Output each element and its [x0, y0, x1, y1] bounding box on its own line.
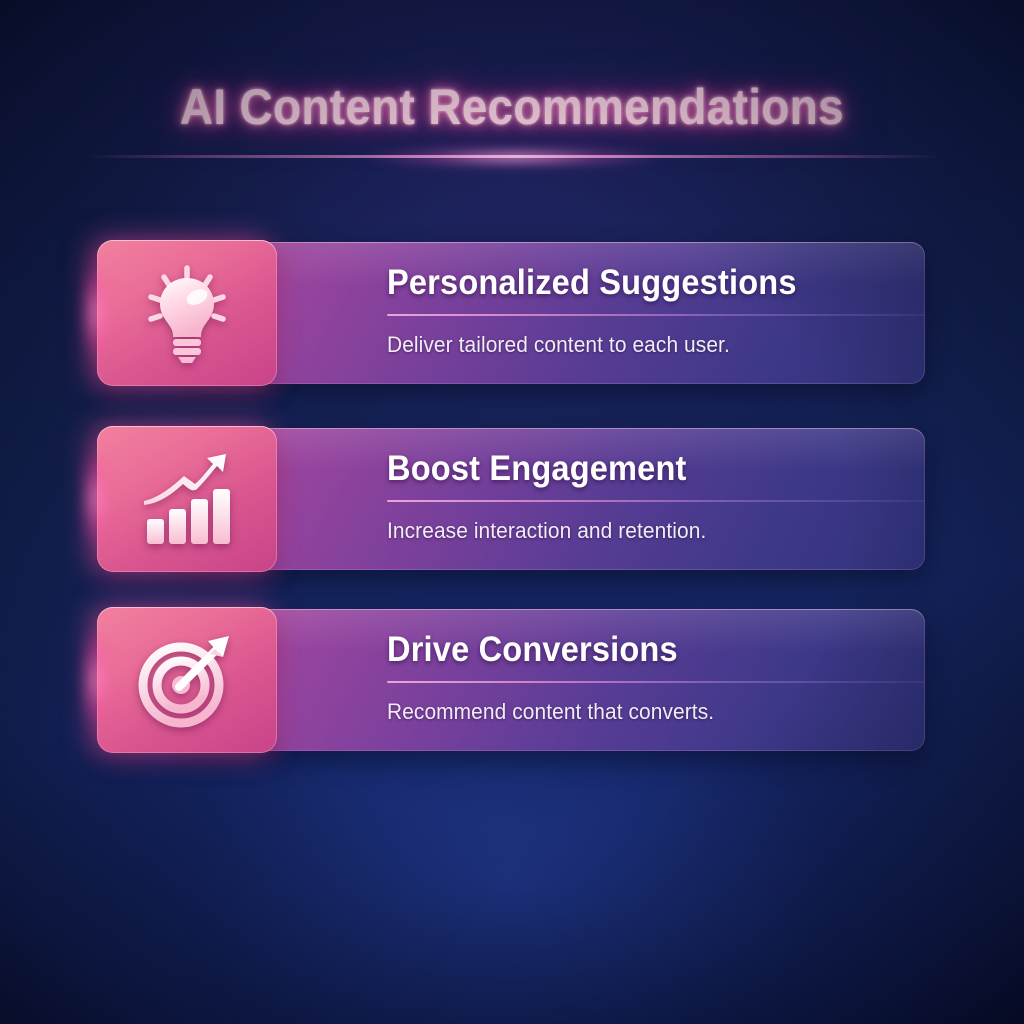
feature-card[interactable]: Personalized Suggestions Deliver tailore… — [97, 240, 925, 386]
card-text-block: Drive Conversions Recommend content that… — [387, 629, 925, 725]
card-body: Boost Engagement Increase interaction an… — [177, 428, 925, 570]
infographic-canvas: AI Content Recommendations Personalized … — [0, 0, 1024, 1024]
card-divider — [387, 314, 925, 316]
lightbulb-icon — [135, 261, 239, 365]
card-body: Personalized Suggestions Deliver tailore… — [177, 242, 925, 384]
header: AI Content Recommendations — [0, 78, 1024, 136]
target-arrow-icon — [135, 628, 239, 732]
card-icon-tile[interactable] — [97, 240, 277, 386]
bar-chart-growth-icon — [135, 447, 239, 551]
card-divider — [387, 681, 925, 683]
card-text-block: Personalized Suggestions Deliver tailore… — [387, 262, 925, 358]
title-glow-divider — [84, 155, 944, 158]
card-text-block: Boost Engagement Increase interaction an… — [387, 448, 925, 544]
card-title: Personalized Suggestions — [387, 262, 925, 304]
card-title: Boost Engagement — [387, 448, 925, 490]
card-icon-tile[interactable] — [97, 426, 277, 572]
card-title: Drive Conversions — [387, 629, 925, 671]
page-title: AI Content Recommendations — [180, 78, 844, 136]
card-icon-tile[interactable] — [97, 607, 277, 753]
card-body: Drive Conversions Recommend content that… — [177, 609, 925, 751]
feature-card[interactable]: Drive Conversions Recommend content that… — [97, 607, 925, 753]
feature-card[interactable]: Boost Engagement Increase interaction an… — [97, 426, 925, 572]
card-description: Increase interaction and retention. — [387, 518, 925, 544]
card-description: Recommend content that converts. — [387, 699, 925, 725]
card-description: Deliver tailored content to each user. — [387, 332, 925, 358]
card-divider — [387, 500, 925, 502]
